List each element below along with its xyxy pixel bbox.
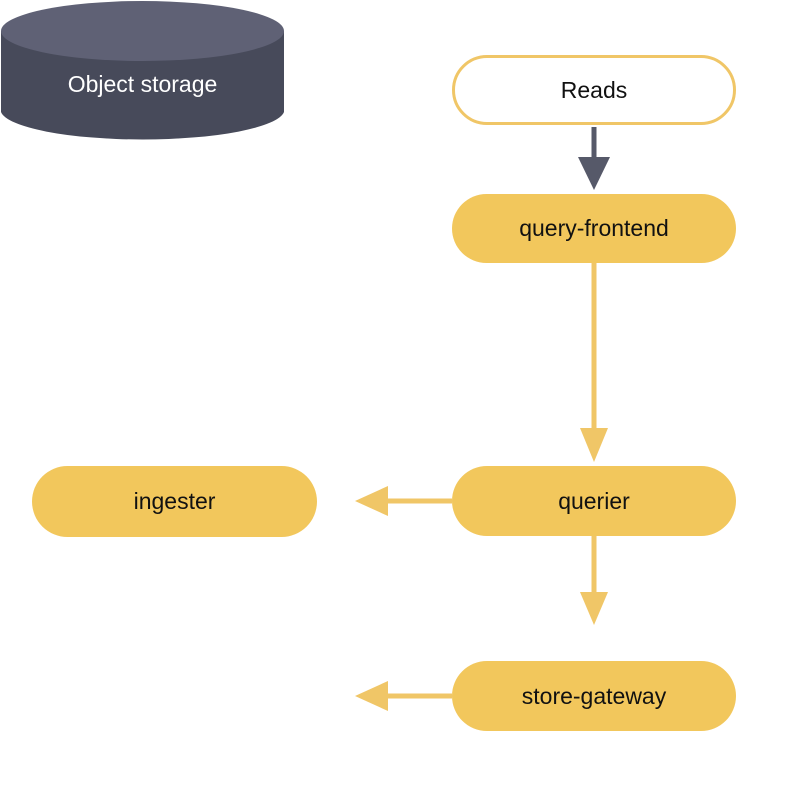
- node-ingester-label: ingester: [134, 488, 216, 514]
- node-object-storage-label: Object storage: [0, 0, 285, 143]
- node-query-frontend-label: query-frontend: [519, 215, 669, 241]
- edge-querier-to-ingester: [355, 486, 452, 516]
- node-querier-label: querier: [558, 488, 630, 514]
- edge-querier-to-store-gateway: [580, 536, 608, 625]
- node-ingester[interactable]: ingester: [32, 466, 317, 537]
- node-store-gateway[interactable]: store-gateway: [452, 661, 736, 731]
- node-object-storage[interactable]: Object storage: [0, 0, 285, 143]
- edge-query-frontend-to-querier: [580, 263, 608, 462]
- node-querier[interactable]: querier: [452, 466, 736, 536]
- edge-reads-to-query-frontend: [578, 127, 610, 190]
- diagram-canvas: Reads query-frontend querier ingester st…: [0, 0, 800, 804]
- node-reads[interactable]: Reads: [452, 55, 736, 125]
- node-store-gateway-label: store-gateway: [522, 683, 666, 709]
- node-reads-label: Reads: [561, 77, 627, 103]
- edge-store-gateway-to-object-storage: [355, 681, 452, 711]
- node-query-frontend[interactable]: query-frontend: [452, 194, 736, 263]
